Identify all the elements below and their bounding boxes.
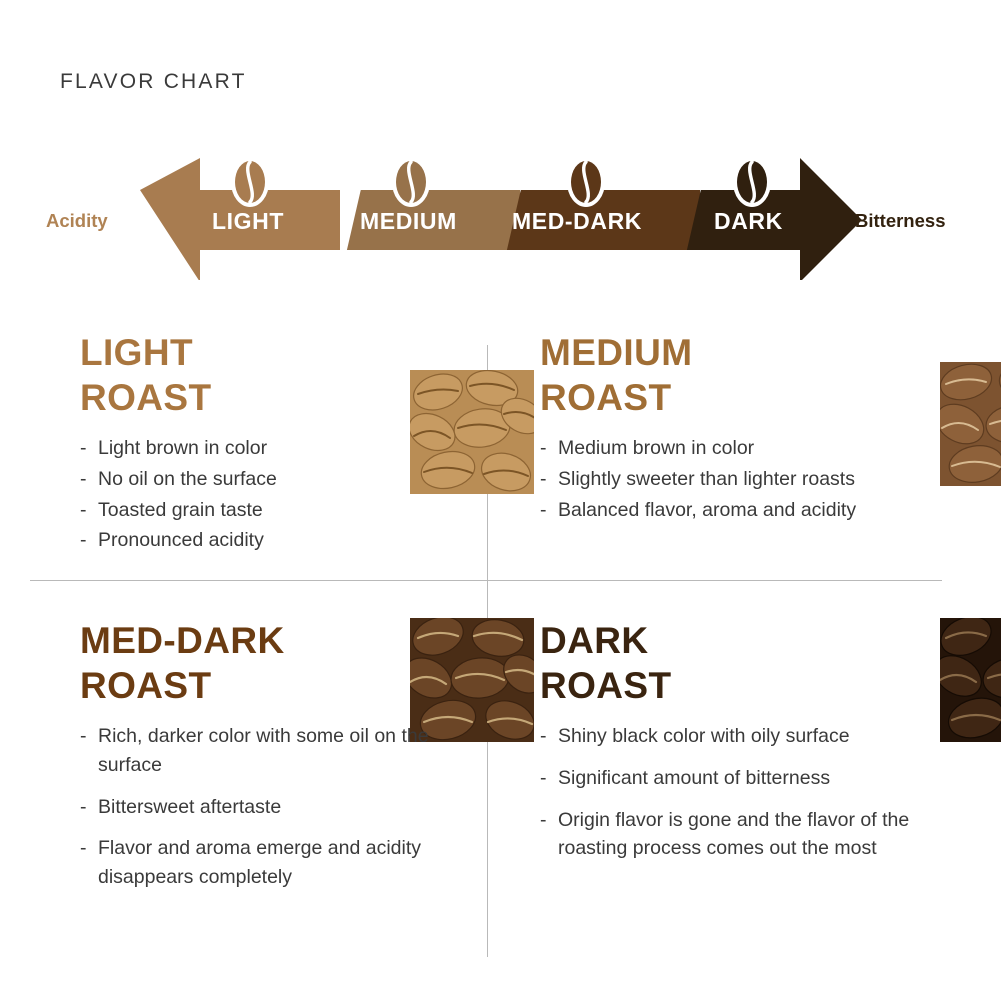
- roast-bullets-medium: Medium brown in color Slightly sweeter t…: [540, 434, 960, 524]
- list-item: Medium brown in color: [540, 434, 960, 463]
- coffee-bean-icon-med-dark: [567, 157, 605, 207]
- list-item: Light brown in color: [80, 434, 480, 463]
- scale-segment-label-medium: MEDIUM: [360, 208, 457, 235]
- roast-card-light: LIGHT ROAST Light brown in color No oil …: [80, 330, 480, 557]
- list-item: Shiny black color with oily surface: [540, 722, 960, 751]
- roast-title-dark: DARK ROAST: [540, 618, 960, 708]
- list-item: Rich, darker color with some oil on the …: [80, 722, 480, 779]
- scale-segment-label-light: LIGHT: [212, 208, 284, 235]
- page-title: FLAVOR CHART: [60, 70, 247, 94]
- list-item: Significant amount of bitterness: [540, 764, 960, 793]
- list-item: Bittersweet aftertaste: [80, 793, 480, 822]
- list-item: Slightly sweeter than lighter roasts: [540, 465, 960, 494]
- roast-detail-grid: LIGHT ROAST Light brown in color No oil …: [0, 300, 1001, 1000]
- list-item: No oil on the surface: [80, 465, 480, 494]
- roast-bullets-dark: Shiny black color with oily surface Sign…: [540, 722, 960, 863]
- scale-segment-label-dark: DARK: [714, 208, 783, 235]
- roast-card-med-dark: MED-DARK ROAST Rich, darker color with s…: [80, 618, 480, 905]
- roast-title-medium: MEDIUM ROAST: [540, 330, 960, 420]
- roast-card-medium: MEDIUM ROAST Medium brown in color Sligh…: [540, 330, 960, 526]
- list-item: Balanced flavor, aroma and acidity: [540, 496, 960, 525]
- list-item: Flavor and aroma emerge and acidity disa…: [80, 834, 480, 891]
- list-item: Origin flavor is gone and the flavor of …: [540, 806, 960, 863]
- coffee-bean-icon-medium: [392, 157, 430, 207]
- coffee-bean-icon-light: [231, 157, 269, 207]
- roast-scale-graphic: [0, 150, 1001, 280]
- roast-card-dark: DARK ROAST Shiny black color with oily s…: [540, 618, 960, 876]
- scale-segment-label-med-dark: MED-DARK: [512, 208, 642, 235]
- grid-divider-horizontal: [30, 580, 942, 581]
- scale-label-acidity: Acidity: [46, 210, 108, 232]
- list-item: Toasted grain taste: [80, 496, 480, 525]
- roast-bullets-light: Light brown in color No oil on the surfa…: [80, 434, 480, 555]
- roast-bullets-med-dark: Rich, darker color with some oil on the …: [80, 722, 480, 891]
- coffee-bean-icon-dark: [733, 157, 771, 207]
- list-item: Pronounced acidity: [80, 526, 480, 555]
- roast-scale: Acidity Bitterness LIGHT MEDIUM MED-DARK…: [0, 150, 1001, 280]
- scale-label-bitterness: Bitterness: [855, 210, 945, 232]
